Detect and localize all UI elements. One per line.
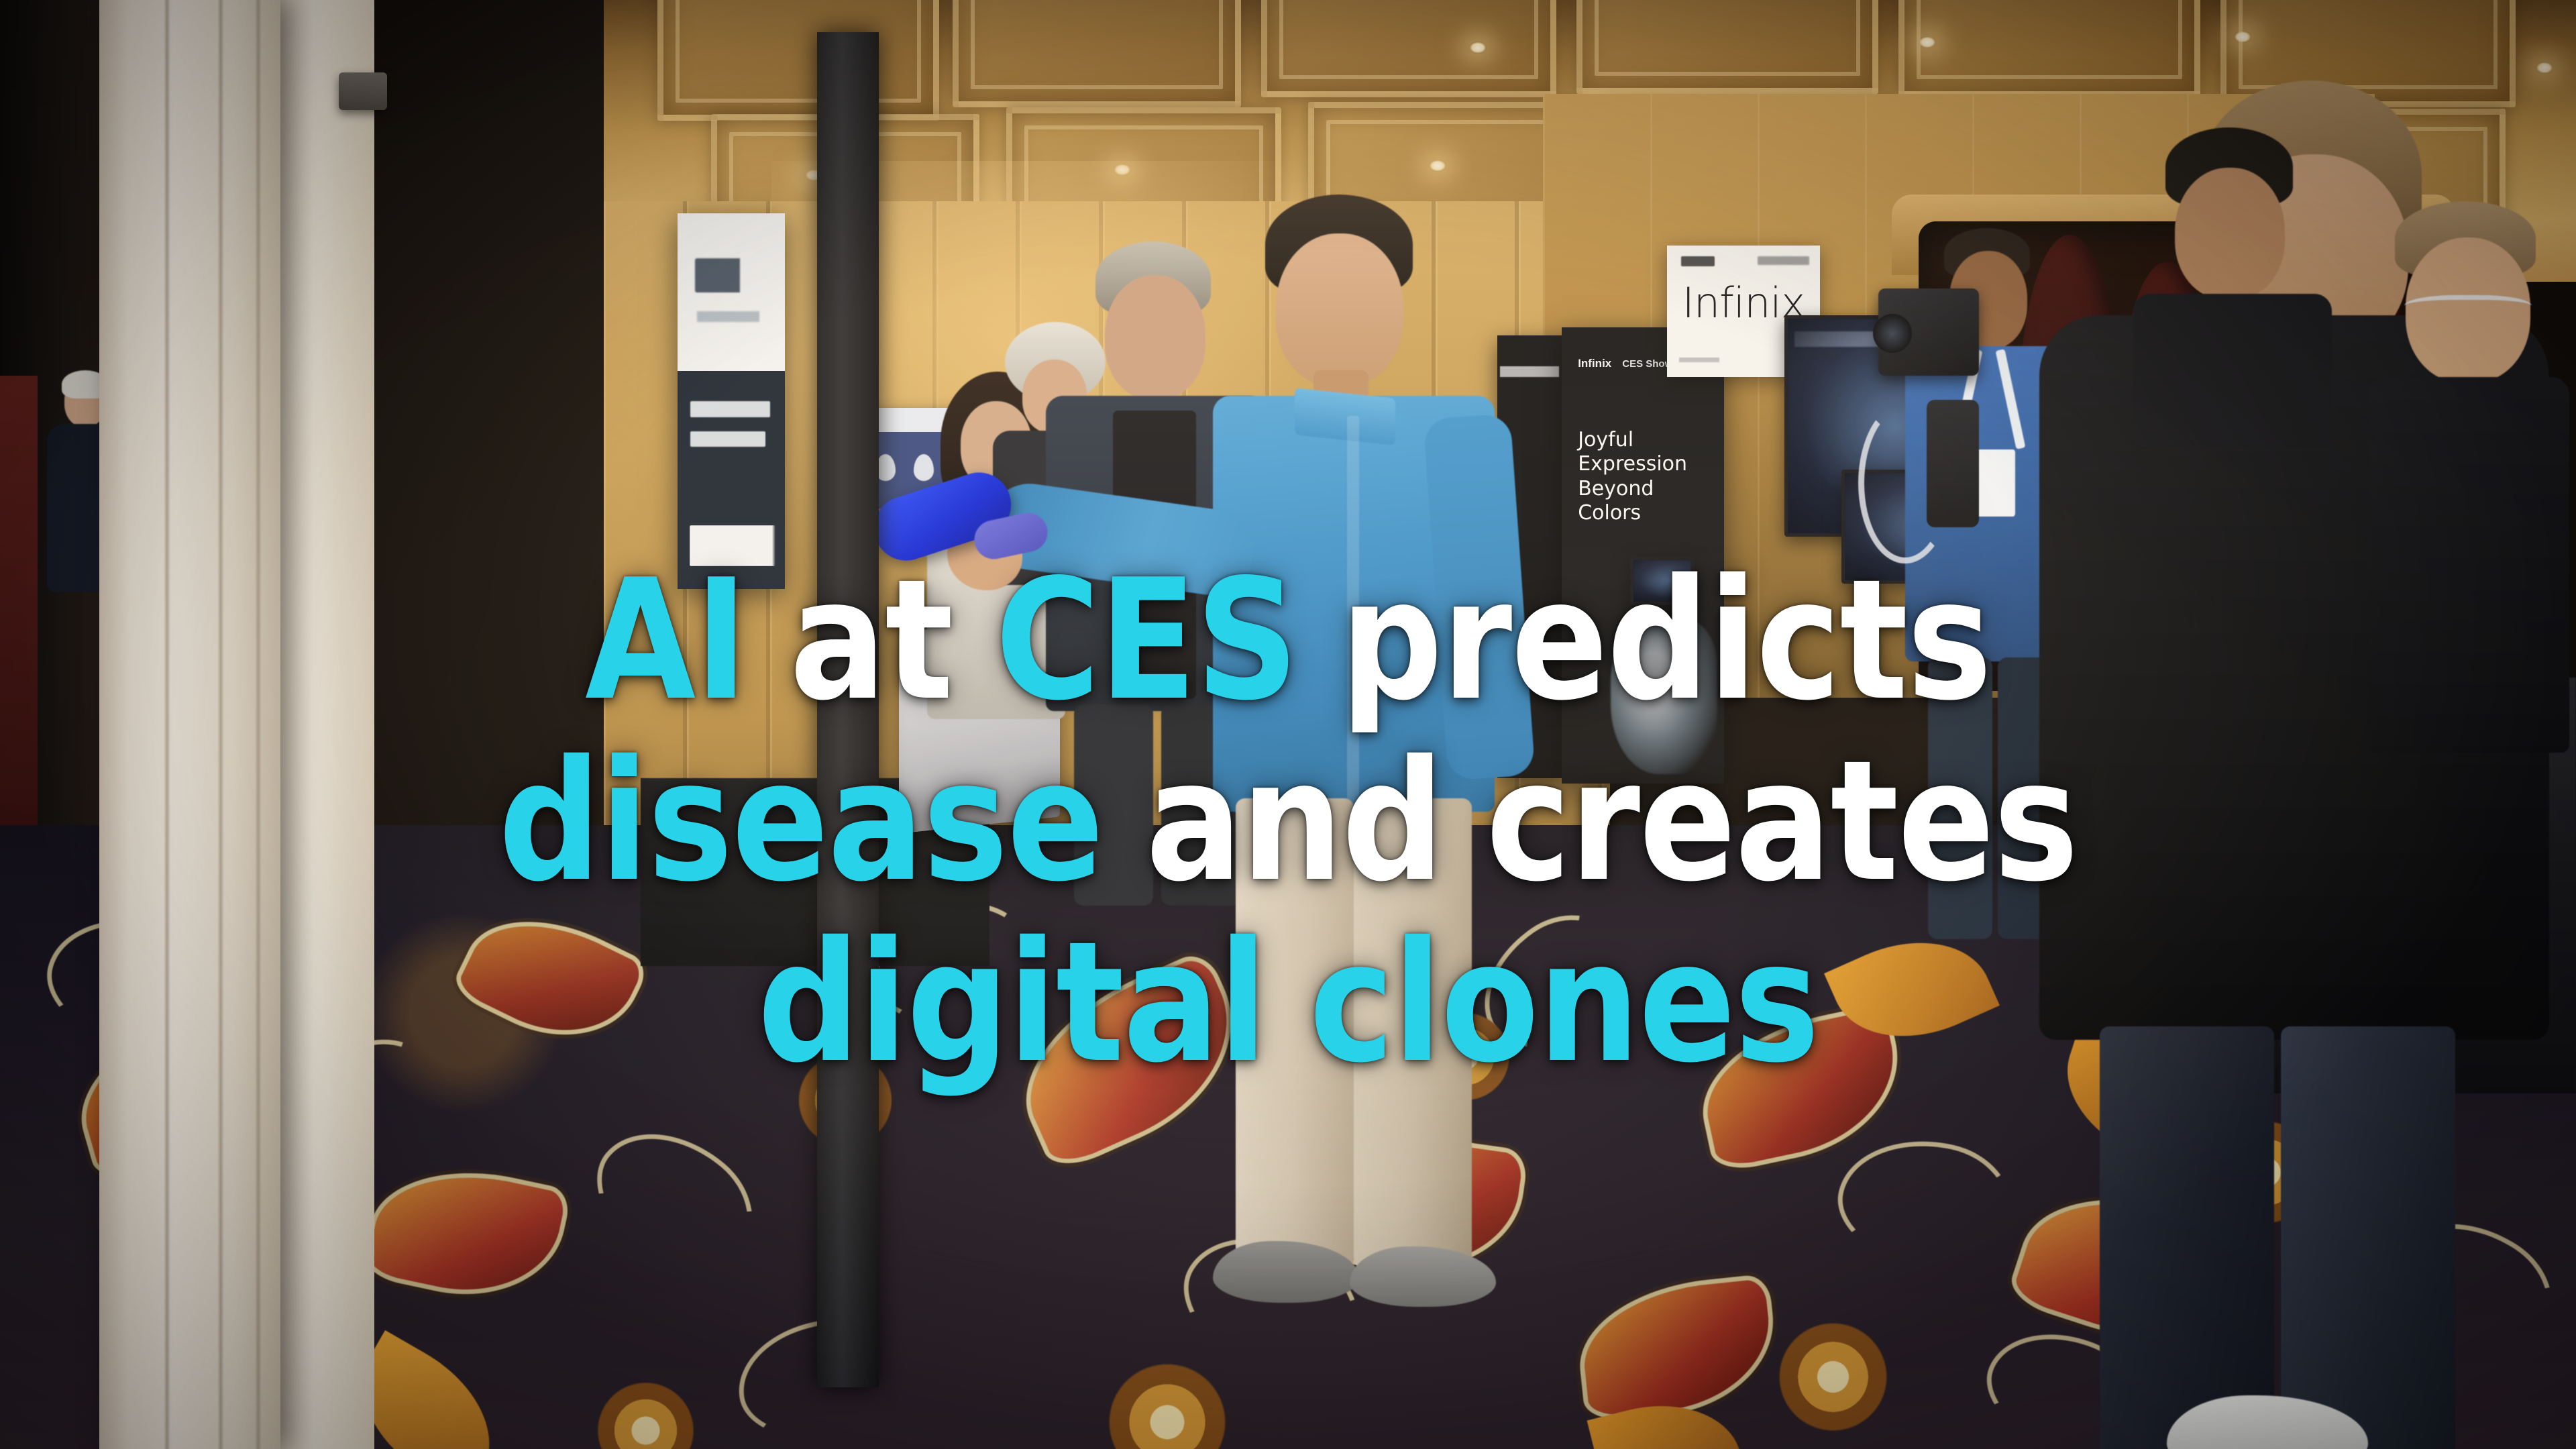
- tagline-line-1: Joyful: [1578, 428, 1717, 453]
- tagline-line-3: Beyond: [1578, 477, 1717, 502]
- eyeglasses-icon: [2404, 295, 2532, 322]
- infinix-banner-tagline: Joyful Expression Beyond Colors: [1578, 428, 1717, 526]
- tagline-line-4: Colors: [1578, 501, 1717, 526]
- banner-product-image: [1611, 619, 1718, 774]
- person-man-blue-shirt: [1201, 195, 1516, 1295]
- showstoppers-logo-mark: [1758, 256, 1810, 266]
- booth-black-post: [817, 32, 879, 1387]
- ballroom-pillar-secondary: [280, 0, 374, 1449]
- person-man-glasses: [2368, 201, 2576, 805]
- pillar-bracket: [339, 72, 387, 110]
- ces-logo-mark: [1681, 256, 1715, 267]
- camera-lens-icon: [1873, 314, 1912, 353]
- infinix-banner-brand: Infinix: [1578, 357, 1611, 370]
- infinix-rollup-banner: Infinix CES ShowStoppers Joyful Expressi…: [1562, 327, 1724, 784]
- mic-cable: [1858, 402, 1952, 563]
- tagline-line-2: Expression: [1578, 452, 1717, 477]
- ballroom-pillar-main: [99, 0, 280, 1449]
- person-behind-hoodie: [2133, 127, 2334, 449]
- video-thumbnail-frame: Infinix CES ShowStoppers Joyful Expressi…: [0, 0, 2576, 1449]
- booth-banner-human: [678, 213, 785, 589]
- sign-fine-print: [1679, 358, 1719, 363]
- tablet-screen-small: [1630, 557, 1695, 605]
